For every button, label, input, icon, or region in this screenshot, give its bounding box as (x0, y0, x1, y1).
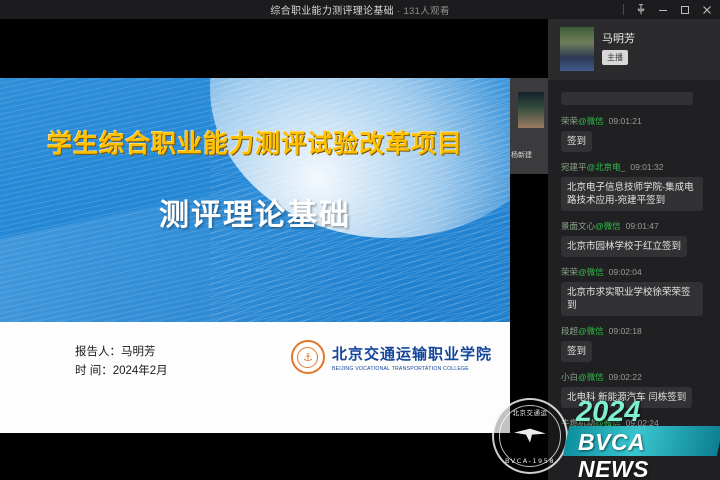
anchor-seal-icon: ⚓ (291, 340, 325, 374)
chat-timestamp: 09:01:47 (626, 221, 659, 231)
shared-slide: 学生综合职业能力测评试验改革项目 测评理论基础 报告人：马明芳 时 间：2024… (0, 78, 510, 433)
chat-user-name: 宛建平 (561, 162, 587, 172)
close-icon[interactable] (696, 0, 718, 19)
chat-messages: 荣荣@微信09:01:21签到宛建平@北京电_09:01:32北京电子信息技师学… (548, 115, 720, 429)
seal-bottom-text: BVCA-1958 (494, 457, 566, 465)
live-stream-window: 综合职业能力测评理论基础 · 131人观看 (0, 0, 720, 480)
host-card[interactable]: 马明芳 主播 (548, 19, 720, 80)
chat-timestamp: 09:02:22 (609, 372, 642, 382)
controls-divider (623, 4, 624, 15)
chat-message: 景面文心@微信09:01:47北京市园林学校于红立签到 (548, 220, 720, 257)
chat-message-meta: 宛建平@北京电_09:01:32 (561, 161, 710, 173)
video-stage[interactable]: 学生综合职业能力测评试验改革项目 测评理论基础 报告人：马明芳 时 间：2024… (0, 19, 548, 480)
chat-user-name: 荣荣 (561, 116, 578, 126)
chat-user-source: @微信 (578, 372, 604, 382)
presenter-name-line: 报告人：马明芳 (75, 343, 168, 362)
chat-user-source: @北京电_ (587, 162, 626, 172)
slide-title: 学生综合职业能力测评试验改革项目 (0, 124, 510, 160)
slide-subtitle: 测评理论基础 (0, 190, 510, 234)
slide-presenter-info: 报告人：马明芳 时 间：2024年2月 (75, 343, 168, 381)
chat-user-source: @微信 (578, 326, 604, 336)
slide-footer-area: 报告人：马明芳 时 间：2024年2月 ⚓ 北京交通运输职业学院 BEIJING… (0, 322, 510, 433)
chat-message-bubble: 签到 (561, 341, 592, 362)
bird-emblem-icon (512, 426, 548, 446)
chat-user-source: @微信 (595, 221, 621, 231)
slide-header-banner: 学生综合职业能力测评试验改革项目 测评理论基础 (0, 78, 510, 322)
chat-message: 宛建平@北京电_09:01:32北京电子信息技师学院-集成电路技术应用-宛建平签… (548, 161, 720, 211)
college-name-en: BEIJING VOCATIONAL TRANSPORTATION COLLEG… (332, 366, 492, 372)
chat-user-name: 段超 (561, 326, 578, 336)
avatar (560, 27, 594, 71)
anchor-glyph: ⚓ (297, 347, 318, 368)
status-badge: 主播 (602, 50, 628, 65)
participant-video-thumb (518, 92, 544, 128)
chat-timestamp: 09:01:21 (609, 116, 642, 126)
college-logo: ⚓ 北京交通运输职业学院 BEIJING VOCATIONAL TRANSPOR… (291, 340, 492, 374)
minimize-icon[interactable] (652, 0, 674, 19)
college-names: 北京交通运输职业学院 BEIJING VOCATIONAL TRANSPORTA… (332, 343, 492, 372)
chat-user-name: 小白 (561, 372, 578, 382)
broadcaster-seal-watermark: 北京交通运 BVCA-1958 (492, 398, 568, 474)
news-watermark: 2024 BVCA NEWS (566, 398, 720, 460)
chat-message-meta: 荣荣@微信09:01:21 (561, 115, 710, 127)
chat-message-bubble: 北京市求实职业学校徐荣荣签到 (561, 282, 703, 316)
chat-message-bubble: 签到 (561, 131, 592, 152)
participant-thumbnail-tile[interactable]: 杨新建 (510, 78, 548, 174)
college-name-cn: 北京交通运输职业学院 (332, 343, 492, 364)
host-name: 马明芳 (602, 30, 635, 46)
pin-icon[interactable] (630, 0, 652, 19)
window-controls (623, 0, 718, 19)
chat-timestamp: 09:02:04 (609, 267, 642, 277)
chat-message: 段超@微信09:02:18签到 (548, 325, 720, 362)
chat-message-meta: 荣荣@微信09:02:04 (561, 266, 710, 278)
presentation-date-line: 时 间：2024年2月 (75, 362, 168, 381)
chat-message-meta: 段超@微信09:02:18 (561, 325, 710, 337)
chat-message-meta: 景面文心@微信09:01:47 (561, 220, 710, 232)
chat-message-bubble: 北京市园林学校于红立签到 (561, 236, 687, 257)
chat-user-source: @微信 (578, 267, 604, 277)
chat-user-name: 荣荣 (561, 267, 578, 277)
window-title-text: 综合职业能力测评理论基础 (270, 6, 394, 17)
scrolled-message-placeholder (561, 92, 693, 105)
participant-name: 杨新建 (510, 150, 548, 160)
chat-message: 荣荣@微信09:01:21签到 (548, 115, 720, 152)
chat-timestamp: 09:02:18 (609, 326, 642, 336)
chat-message-meta: 小白@微信09:02:22 (561, 371, 710, 383)
news-year: 2024 (576, 396, 641, 429)
maximize-icon[interactable] (674, 0, 696, 19)
chat-message-bubble: 北京电子信息技师学院-集成电路技术应用-宛建平签到 (561, 177, 703, 211)
chat-message: 荣荣@微信09:02:04北京市求实职业学校徐荣荣签到 (548, 266, 720, 316)
chat-timestamp: 09:01:32 (630, 162, 663, 172)
seal-top-text: 北京交通运 (494, 407, 566, 417)
news-label: BVCA NEWS (578, 429, 720, 480)
chat-user-source: @微信 (578, 116, 604, 126)
viewer-count: · 131人观看 (397, 6, 450, 17)
chat-user-name: 景面文心 (561, 221, 595, 231)
window-titlebar: 综合职业能力测评理论基础 · 131人观看 (0, 0, 720, 19)
window-title: 综合职业能力测评理论基础 · 131人观看 (0, 2, 720, 17)
